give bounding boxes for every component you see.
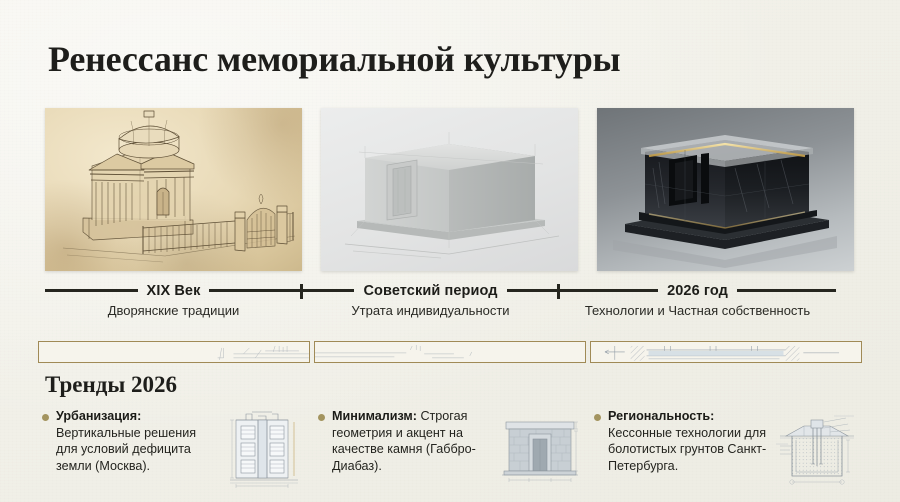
timeline-sublabel: Технологии и Частная собственность [585, 303, 810, 318]
concrete-cube-drawing [321, 108, 578, 271]
trend-body: Кессонные технологии для болотистых грун… [608, 426, 766, 473]
timeline-head: XIX Век [45, 283, 302, 298]
timeline-sublabel: Дворянские традиции [108, 303, 240, 318]
timeline-rule-right [507, 289, 559, 292]
bullet-dot-icon [42, 414, 49, 421]
trend-item-urbanization: Урбанизация: Вертикальные решения для ус… [42, 408, 308, 500]
trend-term: Региональность: [608, 409, 714, 423]
timeline-rule-right [737, 289, 836, 292]
timeline-rule-right [209, 289, 302, 292]
black-granite-mausoleum-drawing [597, 108, 854, 271]
trend-text: Региональность: Кессонные технологии для… [608, 408, 767, 474]
stone-facade-elevation-svg [498, 406, 584, 492]
blueprint-segment-left [38, 341, 310, 363]
trend-term: Урбанизация: [56, 409, 141, 423]
trend-body: Вертикальные решения для условий дефицит… [56, 426, 196, 473]
blueprint-segment-right [590, 341, 862, 363]
timeline-item-soviet-period: Советский период Утрата индивидуальности [302, 283, 559, 318]
bullet-dot-icon [318, 414, 325, 421]
columbarium-section-svg [222, 406, 308, 492]
page-title: Ренессанс мемориальной культуры [48, 38, 620, 80]
caisson-foundation-section-svg [774, 406, 860, 492]
timeline-head: 2026 год [559, 283, 836, 298]
timeline-rule-left [45, 289, 138, 292]
trend-item-minimalism: Минимализм: Строгая геометрия и акцент н… [318, 408, 584, 500]
blueprint-strip [38, 341, 862, 363]
caisson-foundation-section-drawing [774, 406, 860, 492]
trend-term: Минимализм: [332, 409, 417, 423]
trend-text: Минимализм: Строгая геометрия и акцент н… [332, 408, 491, 474]
trends-heading: Тренды 2026 [45, 372, 177, 398]
timeline-label: Советский период [363, 283, 497, 299]
section-hatch-right [591, 342, 861, 363]
timeline-item-19th-century: XIX Век Дворянские традиции [45, 283, 302, 318]
modern-black-granite-render [597, 108, 854, 271]
soviet-concrete-box-render [321, 108, 578, 271]
timeline-rule-left [559, 289, 658, 292]
era-timeline: XIX Век Дворянские традиции Советский пе… [45, 283, 855, 329]
timeline-rule-left [302, 289, 354, 292]
neoclassical-mausoleum-drawing [45, 108, 302, 271]
timeline-item-2026: 2026 год Технологии и Частная собственно… [559, 283, 836, 318]
trend-text: Урбанизация: Вертикальные решения для ус… [56, 408, 215, 474]
blueprint-segment-center [314, 341, 586, 363]
plan-line-work-center [315, 342, 585, 363]
timeline-label: XIX Век [147, 283, 201, 299]
stone-facade-elevation-drawing [498, 406, 584, 492]
trend-item-regionality: Региональность: Кессонные технологии для… [594, 408, 860, 500]
timeline-sublabel: Утрата индивидуальности [351, 303, 509, 318]
plan-line-work-left [39, 342, 309, 363]
timeline-label: 2026 год [667, 283, 728, 299]
antique-mausoleum-sketch [45, 108, 302, 271]
bullet-dot-icon [594, 414, 601, 421]
timeline-head: Советский период [302, 283, 559, 298]
infographic-page: Ренессанс мемориальной культуры [0, 0, 900, 502]
trends-list: Урбанизация: Вертикальные решения для ус… [42, 408, 860, 500]
columbarium-section-drawing [222, 406, 308, 492]
era-image-gallery [45, 108, 855, 271]
